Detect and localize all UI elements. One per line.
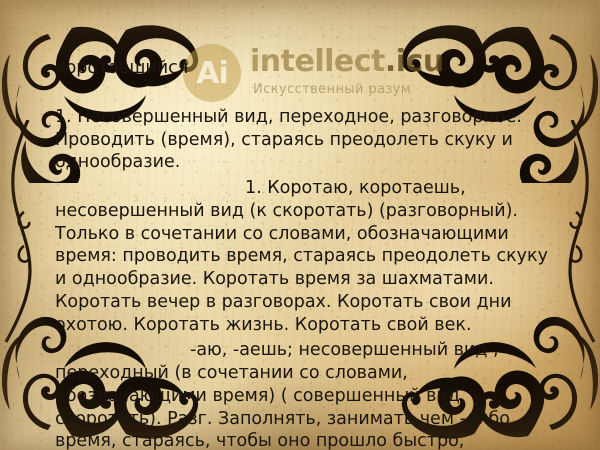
dictionary-article: коротавшийся 1. Несовершенный вид, перех… [55, 58, 560, 450]
dictionary-page: Ai intellect.icu Искусственный разум кор… [0, 0, 600, 450]
headword: коротавшийся [55, 58, 560, 80]
vine-border-right-icon [560, 120, 600, 350]
sense-2-text: 1. Коротаю, коротаешь, несовершенный вид… [55, 177, 560, 336]
sense-1-text: 1. Несовершенный вид, переходное, разгов… [55, 106, 560, 174]
sense-3-text: -аю, -аешь; несовершенный вид , переходн… [55, 339, 560, 450]
vine-border-left-icon [0, 120, 40, 350]
